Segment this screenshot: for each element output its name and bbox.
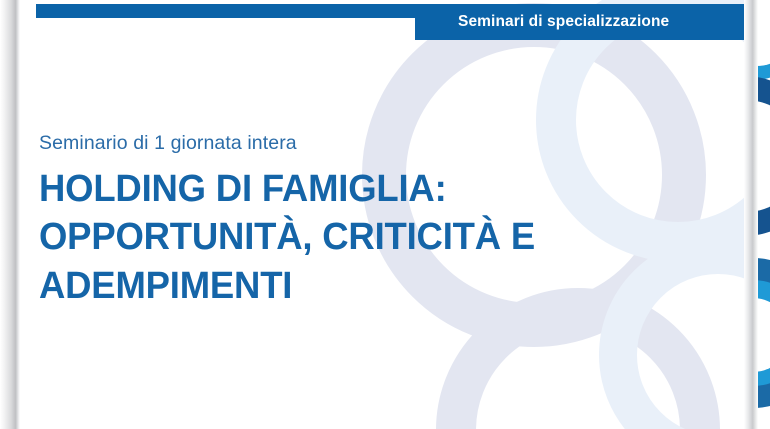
ring-bottom <box>456 308 700 429</box>
ring-small <box>618 255 749 429</box>
page-edge-shadow-left <box>0 0 20 429</box>
page-edge-shadow-right <box>744 0 758 429</box>
poster-root: Seminari di specializzazione Seminario d… <box>0 0 770 429</box>
title-line-3: ADEMPIMENTI <box>39 262 577 310</box>
title-line-1: HOLDING DI FAMIGLIA: <box>39 165 577 213</box>
ribbon-banner: Seminari di specializzazione <box>415 4 749 40</box>
seminar-kicker: Seminario di 1 giornata intera <box>39 132 599 155</box>
title-line-2: OPPORTUNITÀ, CRITICITÀ E <box>39 213 577 261</box>
front-page-sheet: Seminari di specializzazione Seminario d… <box>18 0 749 429</box>
ribbon-label: Seminari di specializzazione <box>415 13 669 31</box>
page-title: HOLDING DI FAMIGLIA: OPPORTUNITÀ, CRITIC… <box>39 165 577 310</box>
title-block: Seminario di 1 giornata intera HOLDING D… <box>39 132 599 310</box>
